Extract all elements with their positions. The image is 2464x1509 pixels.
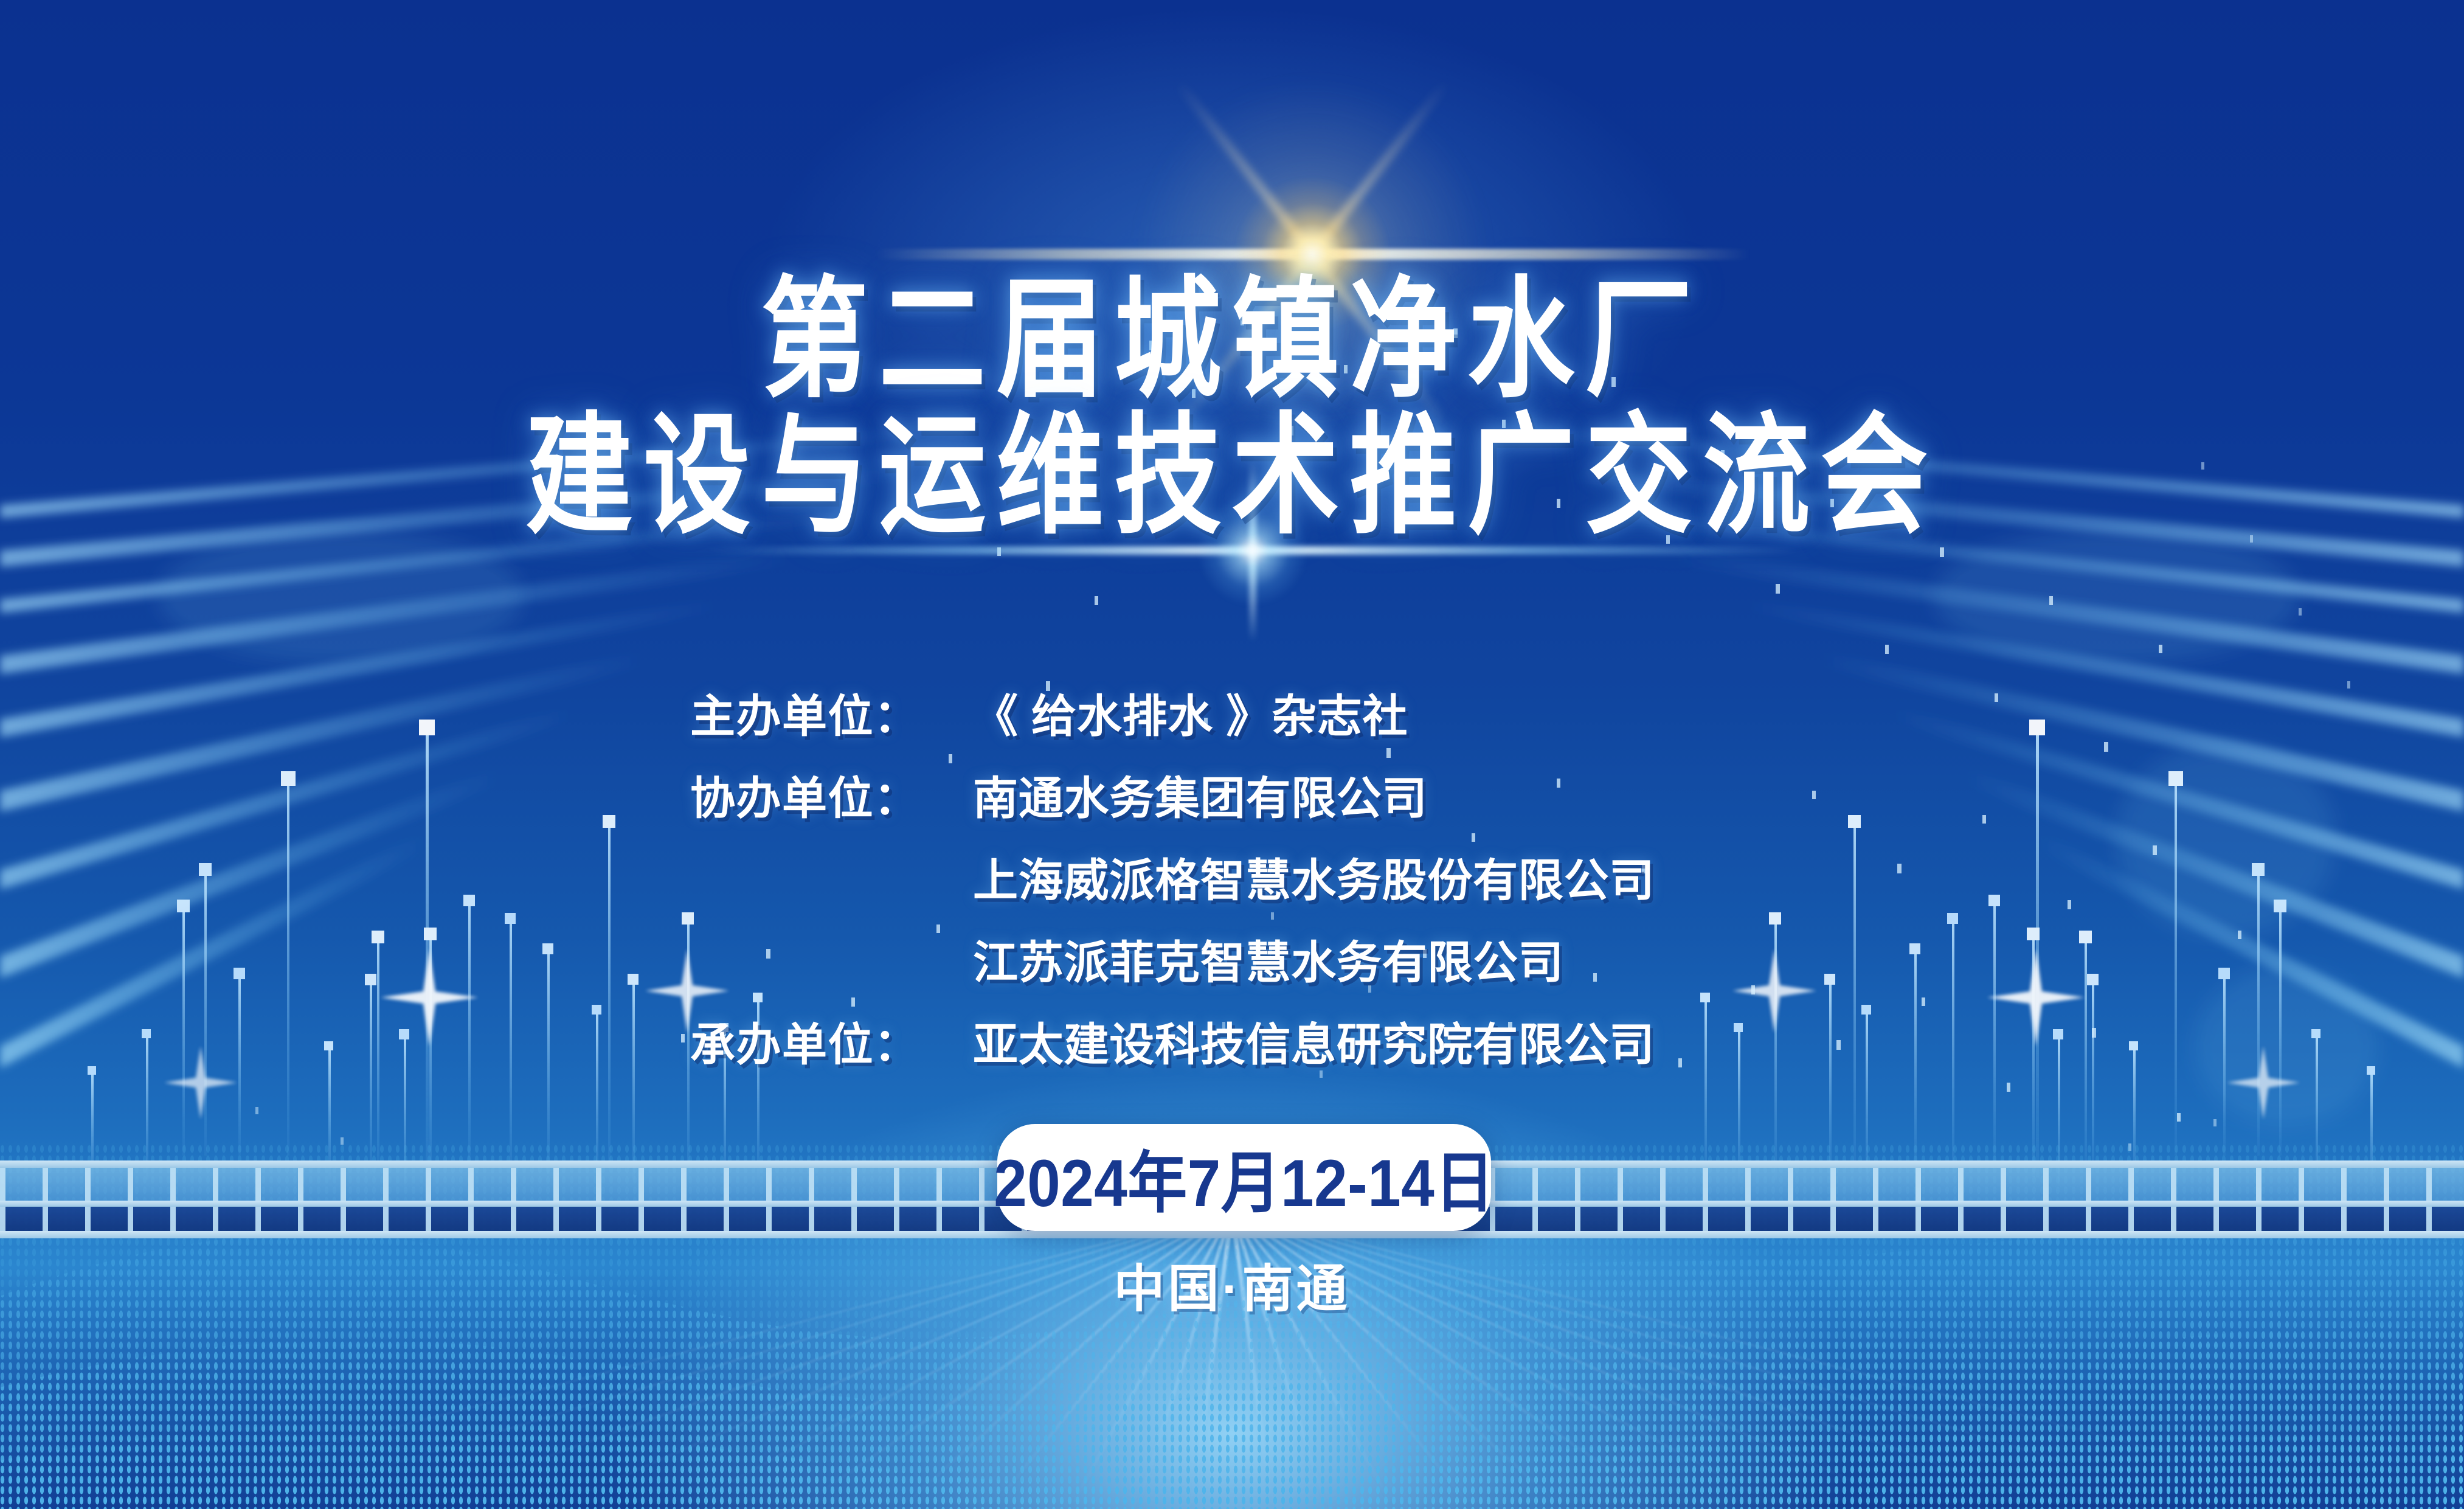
date-badge: 2024年7月12-14日	[997, 1124, 1491, 1231]
organizer-value: 亚太建设科技信息研究院有限公司	[973, 1008, 1655, 1074]
organizer-label: 协办单位：	[690, 762, 973, 827]
organizer-value: 上海威派格智慧水务股份有限公司	[973, 844, 1655, 909]
organizer-row: 协办单位： 江苏派菲克智慧水务有限公司	[690, 926, 1655, 1008]
organizer-value: 南通水务集团有限公司	[973, 762, 1427, 827]
organizer-row: 主办单位： 《 给水排水 》杂志社	[690, 680, 1655, 762]
organizer-label: 承办单位：	[690, 1008, 973, 1074]
title-line-2: 建设与运维技术推广交流会	[0, 411, 2464, 542]
organizer-row: 协办单位： 上海威派格智慧水务股份有限公司	[690, 844, 1655, 926]
organizer-value: 江苏派菲克智慧水务有限公司	[973, 926, 1564, 991]
conference-poster: 第二届城镇净水厂 建设与运维技术推广交流会 主办单位： 《 给水排水 》杂志社 …	[0, 0, 2464, 1509]
date-text: 2024年7月12-14日	[994, 1129, 1495, 1226]
organizer-list: 主办单位： 《 给水排水 》杂志社 协办单位： 南通水务集团有限公司 协办单位：…	[690, 680, 1655, 1091]
organizer-row: 承办单位： 亚太建设科技信息研究院有限公司	[690, 1008, 1655, 1091]
organizer-label: 主办单位：	[690, 680, 973, 745]
city-label: 中国·南通	[0, 1248, 2464, 1322]
organizer-row: 协办单位： 南通水务集团有限公司	[690, 762, 1655, 844]
poster-title: 第二届城镇净水厂 建设与运维技术推广交流会	[0, 275, 2464, 518]
title-line-1: 第二届城镇净水厂	[0, 275, 2464, 406]
organizer-value: 《 给水排水 》杂志社	[973, 680, 1408, 745]
